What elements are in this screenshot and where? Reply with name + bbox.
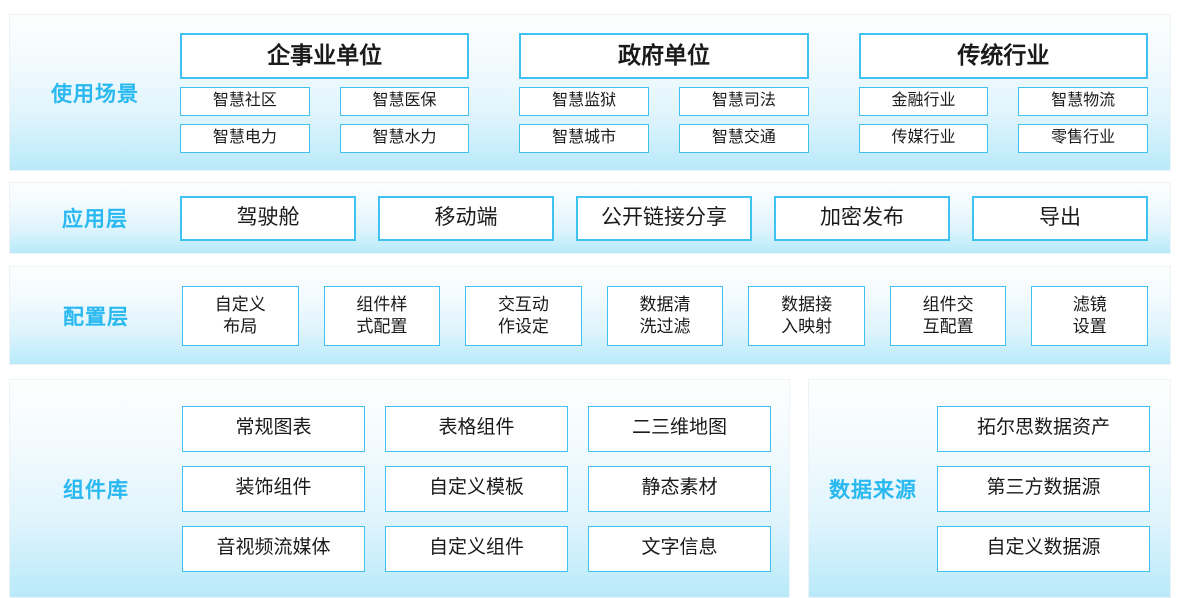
configuration-item[interactable]: 组件样 式配置	[324, 286, 441, 346]
scenario-item[interactable]: 智慧水力	[340, 124, 470, 153]
scenario-item[interactable]: 智慧城市	[519, 124, 649, 153]
scenario-sub-row: 金融行业 智慧物流	[859, 87, 1148, 116]
scenario-item[interactable]: 智慧司法	[679, 87, 809, 116]
component-column: 表格组件 自定义模板 自定义组件	[385, 406, 568, 572]
component-item[interactable]: 音视频流媒体	[182, 526, 365, 572]
configuration-item-line2: 布局	[223, 316, 257, 338]
component-item[interactable]: 自定义模板	[385, 466, 568, 512]
section-label-component-library: 组件库	[10, 474, 182, 504]
configuration-item[interactable]: 自定义 布局	[182, 286, 299, 346]
configuration-item-line2: 式配置	[356, 316, 407, 338]
scenario-group: 传统行业 金融行业 智慧物流 传媒行业 零售行业	[859, 33, 1148, 153]
configuration-item-line2: 洗过滤	[640, 316, 691, 338]
scenario-item[interactable]: 零售行业	[1018, 124, 1148, 153]
configuration-item[interactable]: 交互动 作设定	[465, 286, 582, 346]
scenario-sub-row: 智慧城市 智慧交通	[519, 124, 808, 153]
application-item[interactable]: 移动端	[378, 196, 554, 241]
application-items: 驾驶舱 移动端 公开链接分享 加密发布 导出	[180, 196, 1170, 241]
section-label-configuration-layer: 配置层	[10, 301, 182, 331]
configuration-item[interactable]: 数据接 入映射	[748, 286, 865, 346]
panel-component-library: 组件库 常规图表 装饰组件 音视频流媒体 表格组件 自定义模板 自定义组件 二三…	[9, 379, 790, 598]
configuration-item-line1: 组件样	[356, 294, 407, 316]
panel-data-source: 数据来源 拓尔思数据资产 第三方数据源 自定义数据源	[808, 379, 1171, 598]
scenario-group-header[interactable]: 企事业单位	[180, 33, 469, 79]
scenario-sub-row: 智慧监狱 智慧司法	[519, 87, 808, 116]
application-item[interactable]: 加密发布	[774, 196, 950, 241]
section-label-data-source: 数据来源	[809, 474, 937, 504]
application-item[interactable]: 导出	[972, 196, 1148, 241]
scenario-group-header[interactable]: 政府单位	[519, 33, 808, 79]
scenario-groups: 企事业单位 智慧社区 智慧医保 智慧电力 智慧水力 政府单位 智慧监狱 智慧司法	[180, 15, 1170, 170]
scenario-group: 政府单位 智慧监狱 智慧司法 智慧城市 智慧交通	[519, 33, 808, 153]
configuration-item-line2: 设置	[1073, 316, 1107, 338]
component-item[interactable]: 装饰组件	[182, 466, 365, 512]
component-item[interactable]: 常规图表	[182, 406, 365, 452]
data-source-items: 拓尔思数据资产 第三方数据源 自定义数据源	[937, 406, 1170, 572]
configuration-item-line1: 滤镜	[1073, 294, 1107, 316]
component-item[interactable]: 文字信息	[588, 526, 771, 572]
scenario-item[interactable]: 金融行业	[859, 87, 989, 116]
scenario-item[interactable]: 智慧社区	[180, 87, 310, 116]
scenario-group: 企事业单位 智慧社区 智慧医保 智慧电力 智慧水力	[180, 33, 469, 153]
component-column: 常规图表 装饰组件 音视频流媒体	[182, 406, 365, 572]
application-item[interactable]: 公开链接分享	[576, 196, 752, 241]
component-column: 二三维地图 静态素材 文字信息	[588, 406, 771, 572]
configuration-item-line2: 入映射	[781, 316, 832, 338]
scenario-item[interactable]: 智慧电力	[180, 124, 310, 153]
configuration-item-line1: 交互动	[498, 294, 549, 316]
panel-usage-scenarios: 使用场景 企事业单位 智慧社区 智慧医保 智慧电力 智慧水力 政府单位	[9, 14, 1171, 171]
section-label-usage-scenarios: 使用场景	[10, 78, 180, 108]
panel-configuration-layer: 配置层 自定义 布局 组件样 式配置 交互动 作设定 数据清 洗过滤	[9, 266, 1171, 365]
configuration-items: 自定义 布局 组件样 式配置 交互动 作设定 数据清 洗过滤 数据接 入映射	[182, 286, 1170, 346]
panel-application-layer: 应用层 驾驶舱 移动端 公开链接分享 加密发布 导出	[9, 182, 1171, 254]
architecture-diagram: 使用场景 企事业单位 智慧社区 智慧医保 智慧电力 智慧水力 政府单位	[0, 0, 1180, 598]
scenario-item[interactable]: 智慧医保	[340, 87, 470, 116]
scenario-sub-row: 智慧电力 智慧水力	[180, 124, 469, 153]
component-grid: 常规图表 装饰组件 音视频流媒体 表格组件 自定义模板 自定义组件 二三维地图 …	[182, 406, 789, 572]
component-item[interactable]: 静态素材	[588, 466, 771, 512]
component-item[interactable]: 二三维地图	[588, 406, 771, 452]
configuration-item-line1: 数据清	[640, 294, 691, 316]
data-source-item[interactable]: 第三方数据源	[937, 466, 1150, 512]
component-item[interactable]: 表格组件	[385, 406, 568, 452]
scenario-sub-row: 传媒行业 零售行业	[859, 124, 1148, 153]
configuration-item-line1: 组件交	[923, 294, 974, 316]
configuration-item-line1: 自定义	[215, 294, 266, 316]
configuration-item-line2: 作设定	[498, 316, 549, 338]
configuration-item[interactable]: 滤镜 设置	[1031, 286, 1148, 346]
scenario-group-header[interactable]: 传统行业	[859, 33, 1148, 79]
scenario-item[interactable]: 智慧监狱	[519, 87, 649, 116]
configuration-item-line2: 互配置	[923, 316, 974, 338]
configuration-item-line1: 数据接	[781, 294, 832, 316]
data-source-item[interactable]: 拓尔思数据资产	[937, 406, 1150, 452]
application-item[interactable]: 驾驶舱	[180, 196, 356, 241]
section-label-application-layer: 应用层	[10, 203, 180, 233]
scenario-item[interactable]: 智慧交通	[679, 124, 809, 153]
data-source-item[interactable]: 自定义数据源	[937, 526, 1150, 572]
component-item[interactable]: 自定义组件	[385, 526, 568, 572]
configuration-item[interactable]: 数据清 洗过滤	[607, 286, 724, 346]
scenario-item[interactable]: 智慧物流	[1018, 87, 1148, 116]
scenario-sub-row: 智慧社区 智慧医保	[180, 87, 469, 116]
scenario-item[interactable]: 传媒行业	[859, 124, 989, 153]
configuration-item[interactable]: 组件交 互配置	[890, 286, 1007, 346]
